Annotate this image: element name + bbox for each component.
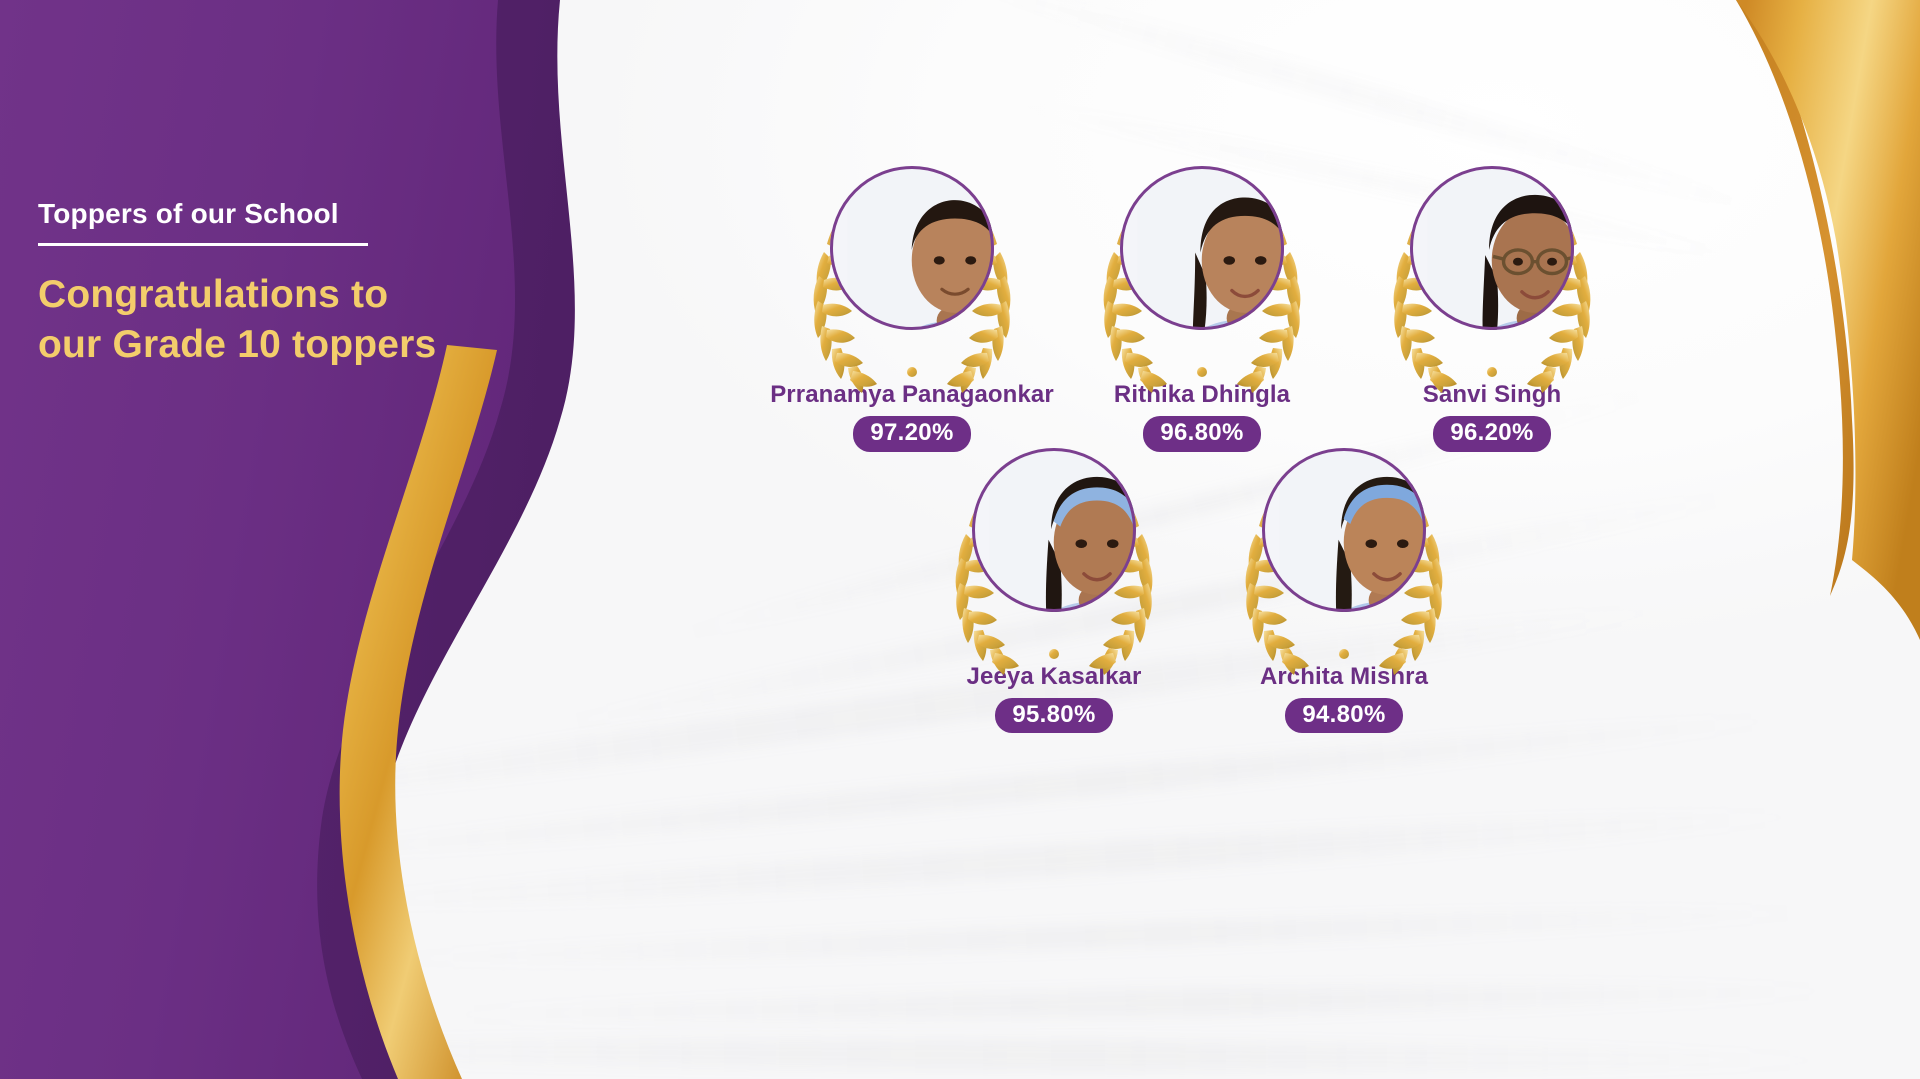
student-portrait-girl-glasses	[1410, 166, 1574, 330]
slide-canvas: Toppers of our School Congratulations to…	[0, 0, 1920, 1079]
panel-text-block: Toppers of our School Congratulations to…	[38, 196, 458, 370]
laurel-medallion	[1219, 442, 1469, 657]
student-photo	[1262, 448, 1426, 612]
student-photo	[1120, 166, 1284, 330]
topper-name: Archita Mishra	[1260, 663, 1428, 691]
topper-card[interactable]: Archita Mishra 94.80%	[1199, 442, 1489, 734]
topper-score-badge: 94.80%	[1285, 698, 1402, 734]
panel-eyebrow: Toppers of our School	[38, 196, 458, 231]
topper-card[interactable]: Rithika Dhingla 96.80%	[1057, 160, 1347, 452]
student-photo	[1410, 166, 1574, 330]
student-portrait-girl-braids	[1120, 166, 1284, 330]
topper-card[interactable]: Sanvi Singh 96.20%	[1347, 160, 1637, 452]
topper-card[interactable]: Prranamya Panagaonkar 97.20%	[767, 160, 1057, 452]
student-portrait-girl-headband	[972, 448, 1136, 612]
topper-name: Jeeya Kasalkar	[967, 663, 1142, 691]
toppers-grid: Prranamya Panagaonkar 97.20%	[540, 160, 1860, 733]
topper-card[interactable]: Jeeya Kasalkar 95.80%	[909, 442, 1199, 734]
panel-divider	[38, 243, 368, 246]
left-purple-panel	[0, 0, 620, 1079]
topper-name: Rithika Dhingla	[1114, 381, 1290, 409]
topper-name: Prranamya Panagaonkar	[770, 381, 1054, 409]
laurel-medallion	[929, 442, 1179, 657]
student-portrait-girl-headband-blue	[1262, 448, 1426, 612]
laurel-medallion	[1077, 160, 1327, 375]
student-photo	[972, 448, 1136, 612]
toppers-row-2: Jeeya Kasalkar 95.80%	[538, 442, 1860, 734]
student-portrait-boy-tie	[830, 166, 994, 330]
laurel-medallion	[1367, 160, 1617, 375]
panel-headline: Congratulations to our Grade 10 toppers	[38, 270, 458, 370]
topper-score-badge: 95.80%	[995, 698, 1112, 734]
laurel-medallion	[787, 160, 1037, 375]
student-photo	[830, 166, 994, 330]
toppers-row-1: Prranamya Panagaonkar 97.20%	[544, 160, 1860, 452]
